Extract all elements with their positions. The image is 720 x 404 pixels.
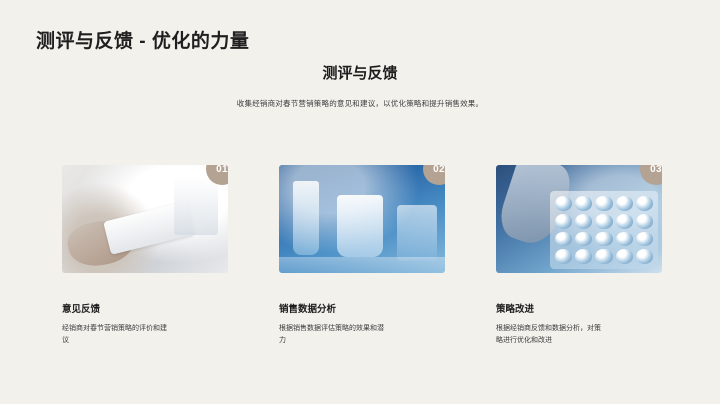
well-dot <box>636 196 653 211</box>
well-dot <box>555 214 572 229</box>
card-image: 02 <box>279 165 445 273</box>
photo-shape-bench <box>279 257 445 273</box>
well-dot <box>575 249 592 264</box>
card-body: 根据经销商反馈和数据分析，对策略进行优化和改进 <box>496 323 604 348</box>
card-item[interactable]: 02 销售数据分析 根据销售数据评估策略的效果和潜力 <box>279 165 445 348</box>
card-body: 根据销售数据评估策略的效果和潜力 <box>279 323 387 348</box>
card-heading: 意见反馈 <box>62 301 228 315</box>
well-dot <box>595 214 612 229</box>
photo-shape-well-plate <box>550 191 658 269</box>
well-dot <box>555 232 572 247</box>
card-item[interactable]: 01 意见反馈 经销商对春节营销策略的评价和建议 <box>62 165 228 348</box>
well-dot <box>595 232 612 247</box>
card-heading: 策略改进 <box>496 301 662 315</box>
card-image: 03 <box>496 165 662 273</box>
well-dot <box>595 249 612 264</box>
card-list: 01 意见反馈 经销商对春节营销策略的评价和建议 02 销售数据分析 根据销售数… <box>62 165 662 348</box>
content-subtitle: 收集经销商对春节营销策略的意见和建议，以优化策略和提升销售效果。 <box>0 98 720 109</box>
well-dot <box>575 232 592 247</box>
photo-shape-container-right <box>397 205 437 261</box>
slide: 测评与反馈 - 优化的力量 测评与反馈 收集经销商对春节营销策略的意见和建议，以… <box>0 0 720 404</box>
slide-title: 测评与反馈 - 优化的力量 <box>36 26 249 53</box>
photo-shape-beaker <box>337 195 383 257</box>
well-dot <box>636 232 653 247</box>
well-dot <box>616 214 633 229</box>
card-body: 经销商对春节营销策略的评价和建议 <box>62 323 170 348</box>
well-dot <box>575 214 592 229</box>
photo-shape-bottle-left <box>293 181 319 255</box>
well-dot <box>616 249 633 264</box>
well-dot <box>616 232 633 247</box>
well-dot <box>636 214 653 229</box>
card-image: 01 <box>62 165 228 273</box>
content-title: 测评与反馈 <box>0 62 720 83</box>
well-dot <box>555 249 572 264</box>
photo-shape-panel <box>174 177 218 235</box>
card-heading: 销售数据分析 <box>279 301 445 315</box>
well-dot <box>616 196 633 211</box>
well-dot <box>555 196 572 211</box>
well-dot <box>595 196 612 211</box>
well-dot <box>636 249 653 264</box>
well-dot <box>575 196 592 211</box>
card-item[interactable]: 03 策略改进 根据经销商反馈和数据分析，对策略进行优化和改进 <box>496 165 662 348</box>
